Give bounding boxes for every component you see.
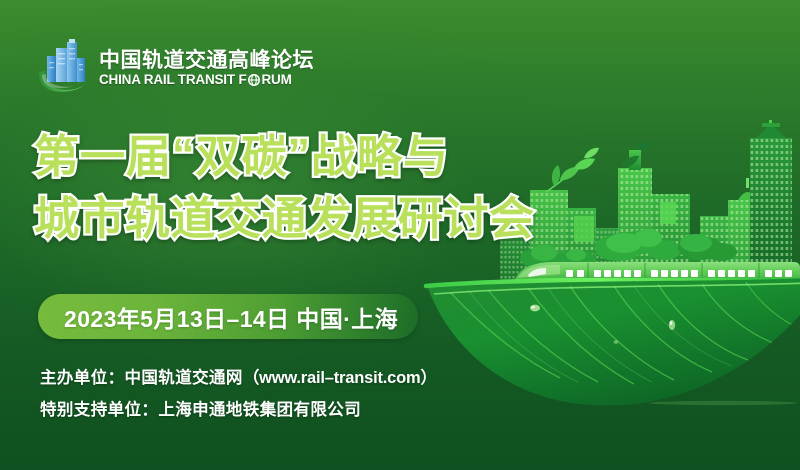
organizer-url[interactable]: （www.rail–transit.com）	[243, 369, 437, 387]
organizer-label: 主办单位：	[40, 369, 125, 387]
green-leaf-illustration	[420, 278, 800, 438]
organizer-line: 主办单位：中国轨道交通网（www.rail–transit.com）	[40, 364, 437, 388]
leaf-reflection	[648, 396, 798, 410]
support-label: 特别支持单位：	[40, 401, 158, 419]
leaf-sprig-illustration	[636, 140, 652, 152]
headline-line-1-b: 双碳	[196, 131, 288, 182]
organizer-value: 中国轨道交通网	[125, 369, 243, 387]
date-location-badge: 2023年5月13日–14日 中国·上海	[38, 294, 418, 339]
footer-credits: 主办单位：中国轨道交通网（www.rail–transit.com） 特别支持单…	[40, 364, 437, 420]
globe-icon	[248, 74, 260, 86]
headline: 第一届“双碳”战略与 城市轨道交通发展研讨会	[34, 126, 594, 250]
quote-open: “	[172, 124, 196, 186]
headline-line-2: 城市轨道交通发展研讨会	[34, 188, 594, 250]
support-value: 上海申通地铁集团有限公司	[158, 401, 361, 419]
logo-english-prefix: CHINA RAIL TRANSIT F	[99, 73, 247, 87]
headline-line-1: 第一届“双碳”战略与	[34, 126, 594, 188]
date-location-text: 2023年5月13日–14日 中国·上海	[64, 300, 398, 334]
headline-line-1-c: 战略与	[311, 131, 449, 182]
logo-chinese-name: 中国轨道交通高峰论坛	[99, 50, 314, 72]
headline-line-1-a: 第一届	[34, 131, 172, 182]
logo-text: 中国轨道交通高峰论坛 CHINA RAIL TRANSIT F RUM	[99, 48, 314, 87]
quote-close: ”	[288, 124, 312, 186]
logo-english-name: CHINA RAIL TRANSIT F RUM	[99, 73, 314, 87]
leaf-sprig-illustration	[619, 154, 641, 170]
forum-logo[interactable]: 中国轨道交通高峰论坛 CHINA RAIL TRANSIT F RUM	[36, 38, 314, 96]
logo-english-suffix: RUM	[262, 73, 292, 87]
support-line: 特别支持单位：上海申通地铁集团有限公司	[40, 396, 437, 420]
logo-mark-icon	[36, 38, 92, 96]
conference-poster: 中国轨道交通高峰论坛 CHINA RAIL TRANSIT F RUM 第一届“…	[0, 0, 800, 470]
